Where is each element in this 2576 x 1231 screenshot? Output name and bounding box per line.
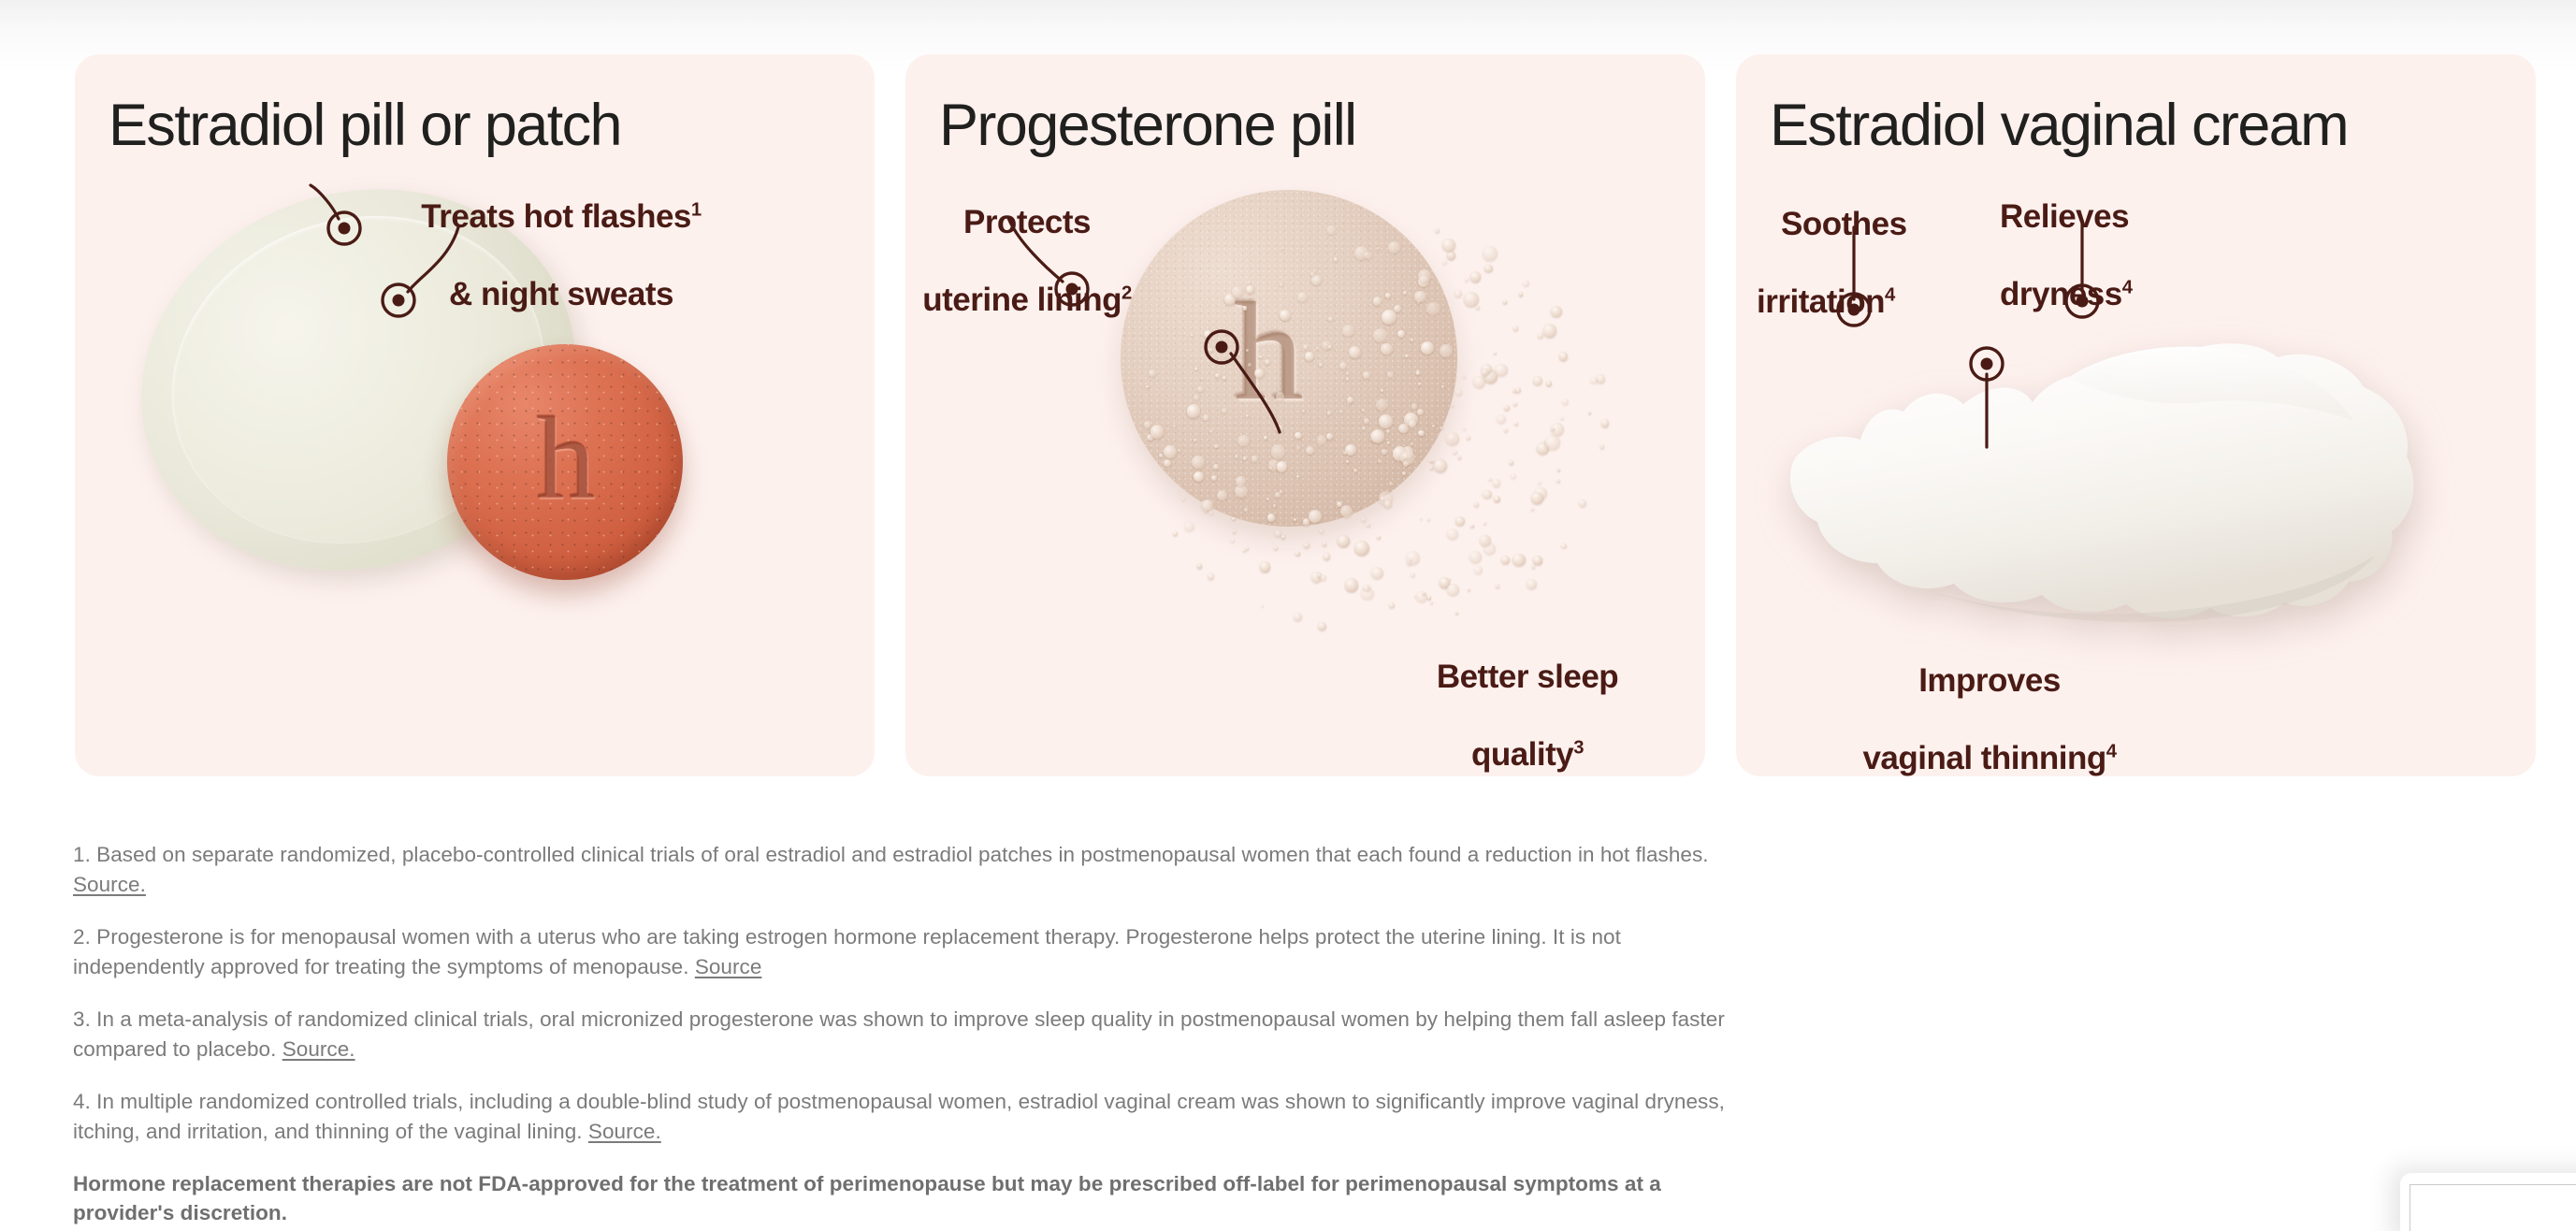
annotation-superscript: 1: [691, 200, 702, 221]
floating-chat-widget-frame: [2410, 1184, 2576, 1231]
annotation-line-2: dryness: [2000, 276, 2122, 312]
hrt-options-infographic: Estradiol pill or patch h Treats hot fla…: [0, 0, 2576, 1231]
annotation-line-1: Protects: [963, 204, 1091, 240]
annotation-line-1: Better sleep: [1437, 659, 1618, 695]
footnote-4-body: 4. In multiple randomized controlled tri…: [73, 1090, 1725, 1143]
cream-swatch-shape: [1787, 335, 2424, 634]
annotation-superscript: 4: [2106, 741, 2117, 761]
card-estradiol-vaginal-cream[interactable]: Estradiol vaginal cream: [1736, 54, 2536, 776]
footnotes-section: 1. Based on separate randomized, placebo…: [73, 840, 1738, 1228]
annotation-superscript: 3: [1573, 737, 1584, 758]
annotation-line-1: Treats hot flashes: [421, 198, 691, 235]
annotation-line-2: & night sweats: [449, 276, 673, 312]
card-progesterone-pill[interactable]: Progesterone pill h Protects uterine lin…: [905, 54, 1705, 776]
annotation-line-1: Soothes: [1757, 206, 1907, 242]
annotation-soothes-irritation: Soothes irritation4: [1757, 167, 2000, 321]
footnote-3-source-link[interactable]: Source.: [282, 1037, 355, 1061]
footnote-3: 3. In a meta-analysis of randomized clin…: [73, 1005, 1738, 1064]
annotation-superscript: 4: [2122, 277, 2133, 297]
annotation-line-2: vaginal thinning: [1862, 740, 2106, 776]
annotation-improves-vaginal-thinning: Improves vaginal thinning4: [1816, 623, 2163, 776]
footnote-2-source-link[interactable]: Source: [695, 955, 762, 978]
annotation-better-sleep-quality: Better sleep quality3: [1373, 619, 1682, 774]
annotation-superscript: 4: [1885, 284, 1895, 305]
annotation-treats-hot-flashes: Treats hot flashes1 & night sweats: [374, 159, 748, 313]
annotation-protects-uterine-lining: Protects uterine lining2: [905, 165, 1177, 319]
pill-emboss-h: h: [537, 392, 594, 527]
footnote-1-body: 1. Based on separate randomized, placebo…: [73, 843, 1709, 866]
treatment-card-row: Estradiol pill or patch h Treats hot fla…: [75, 54, 2576, 776]
footnote-1: 1. Based on separate randomized, placebo…: [73, 840, 1738, 900]
annotation-line-2: quality: [1471, 736, 1573, 773]
estradiol-pill-shape: h: [447, 344, 683, 580]
annotation-line-1: Improves: [1918, 662, 2061, 699]
footnote-1-source-link[interactable]: Source.: [73, 873, 146, 896]
pill-emboss-h: h: [1234, 271, 1304, 432]
footnote-4: 4. In multiple randomized controlled tri…: [73, 1087, 1738, 1147]
footnote-4-source-link[interactable]: Source.: [588, 1120, 661, 1143]
footnote-2: 2. Progesterone is for menopausal women …: [73, 922, 1738, 982]
annotation-line-2: uterine lining: [922, 282, 1122, 318]
annotation-line-2: irritation: [1757, 283, 1885, 320]
annotation-superscript: 2: [1122, 282, 1132, 303]
annotation-line-1: Relieves: [2000, 198, 2129, 235]
footnote-2-body: 2. Progesterone is for menopausal women …: [73, 925, 1621, 978]
annotation-relieves-dryness: Relieves dryness4: [2000, 159, 2243, 313]
floating-chat-widget[interactable]: [2400, 1173, 2576, 1231]
card-estradiol-pill-or-patch[interactable]: Estradiol pill or patch h Treats hot fla…: [75, 54, 875, 776]
fda-disclaimer: Hormone replacement therapies are not FD…: [73, 1169, 1738, 1229]
